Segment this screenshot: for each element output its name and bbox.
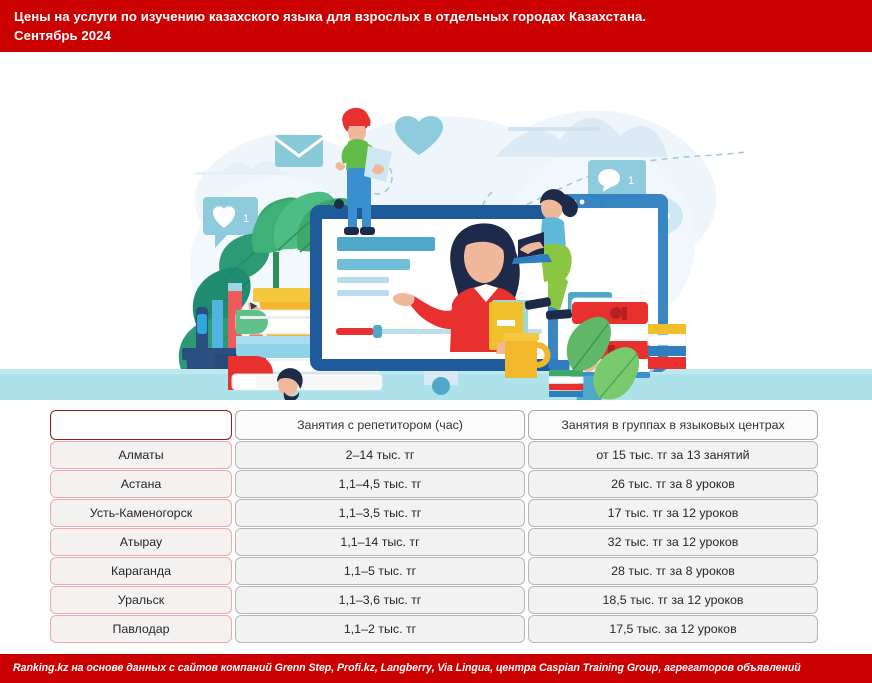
illustration-artwork: 1 1 bbox=[0, 52, 872, 400]
table-row: Караганда 1,1–5 тыс. тг 28 тыс. тг за 8 … bbox=[50, 557, 818, 585]
group-price-cell: 17,5 тыс. за 12 уроков bbox=[528, 615, 818, 643]
table-row: Усть-Каменогорск 1,1–3,5 тыс. тг 17 тыс.… bbox=[50, 499, 818, 527]
source-note: Ranking.kz на основе данных с сайтов ком… bbox=[13, 662, 801, 674]
city-cell: Караганда bbox=[50, 557, 232, 585]
tutor-price-cell: 1,1–5 тыс. тг bbox=[235, 557, 525, 585]
page-title-line-2: Сентябрь 2024 bbox=[14, 26, 858, 45]
screen-line-1 bbox=[337, 237, 435, 251]
table-row: Алматы 2–14 тыс. тг от 15 тыс. тг за 13 … bbox=[50, 441, 818, 469]
group-price-cell: 26 тыс. тг за 8 уроков bbox=[528, 470, 818, 498]
title-bar: Цены на услуги по изучению казахского яз… bbox=[0, 0, 872, 52]
city-cell: Алматы bbox=[50, 441, 232, 469]
page-title-line-1: Цены на услуги по изучению казахского яз… bbox=[14, 7, 858, 26]
tutor-price-cell: 1,1–3,5 тыс. тг bbox=[235, 499, 525, 527]
city-cell: Усть-Каменогорск bbox=[50, 499, 232, 527]
screen-line-2 bbox=[337, 259, 410, 270]
envelope-icon bbox=[275, 135, 323, 167]
cloud-base bbox=[196, 172, 288, 175]
group-price-cell: 32 тыс. тг за 12 уроков bbox=[528, 528, 818, 556]
price-table: Занятия с репетитором (час) Занятия в гр… bbox=[47, 409, 821, 644]
tutor-price-cell: 2–14 тыс. тг bbox=[235, 441, 525, 469]
city-cell: Атырау bbox=[50, 528, 232, 556]
column-header-tutor: Занятия с репетитором (час) bbox=[235, 410, 525, 440]
city-cell: Астана bbox=[50, 470, 232, 498]
footer-bar: Ranking.kz на основе данных с сайтов ком… bbox=[0, 654, 872, 683]
book-stack-far-right bbox=[648, 324, 686, 369]
group-price-cell: 17 тыс. тг за 12 уроков bbox=[528, 499, 818, 527]
tutor-price-cell: 1,1–4,5 тыс. тг bbox=[235, 470, 525, 498]
city-cell: Уральск bbox=[50, 586, 232, 614]
table-corner-cell bbox=[50, 410, 232, 440]
group-price-cell: от 15 тыс. тг за 13 занятий bbox=[528, 441, 818, 469]
group-price-cell: 18,5 тыс. тг за 12 уроков bbox=[528, 586, 818, 614]
like-badge-count: 1 bbox=[243, 213, 249, 225]
progress-handle[interactable] bbox=[373, 325, 382, 338]
group-price-cell: 28 тыс. тг за 8 уроков bbox=[528, 557, 818, 585]
table-row: Атырау 1,1–14 тыс. тг 32 тыс. тг за 12 у… bbox=[50, 528, 818, 556]
tutor-price-cell: 1,1–14 тыс. тг bbox=[235, 528, 525, 556]
table-header-row: Занятия с репетитором (час) Занятия в гр… bbox=[50, 410, 818, 440]
table-row: Уральск 1,1–3,6 тыс. тг 18,5 тыс. тг за … bbox=[50, 586, 818, 614]
price-table-section: Занятия с репетитором (час) Занятия в гр… bbox=[0, 400, 872, 654]
progress-fill bbox=[336, 328, 374, 335]
tutor-price-cell: 1,1–2 тыс. тг bbox=[235, 615, 525, 643]
table-row: Астана 1,1–4,5 тыс. тг 26 тыс. тг за 8 у… bbox=[50, 470, 818, 498]
tutor-price-cell: 1,1–3,6 тыс. тг bbox=[235, 586, 525, 614]
monitor-base-dot bbox=[432, 377, 450, 395]
infographic-page: Цены на услуги по изучению казахского яз… bbox=[0, 0, 872, 683]
carried-books bbox=[549, 370, 583, 397]
mountain-base bbox=[508, 127, 600, 131]
city-cell: Павлодар bbox=[50, 615, 232, 643]
illustration-panel: 1 1 bbox=[0, 52, 872, 400]
comment-badge-count: 1 bbox=[628, 175, 634, 187]
table-row: Павлодар 1,1–2 тыс. тг 17,5 тыс. за 12 у… bbox=[50, 615, 818, 643]
screen-line-3 bbox=[337, 277, 389, 283]
screen-line-4 bbox=[337, 290, 389, 296]
column-header-groups: Занятия в группах в языковых центрах bbox=[528, 410, 818, 440]
